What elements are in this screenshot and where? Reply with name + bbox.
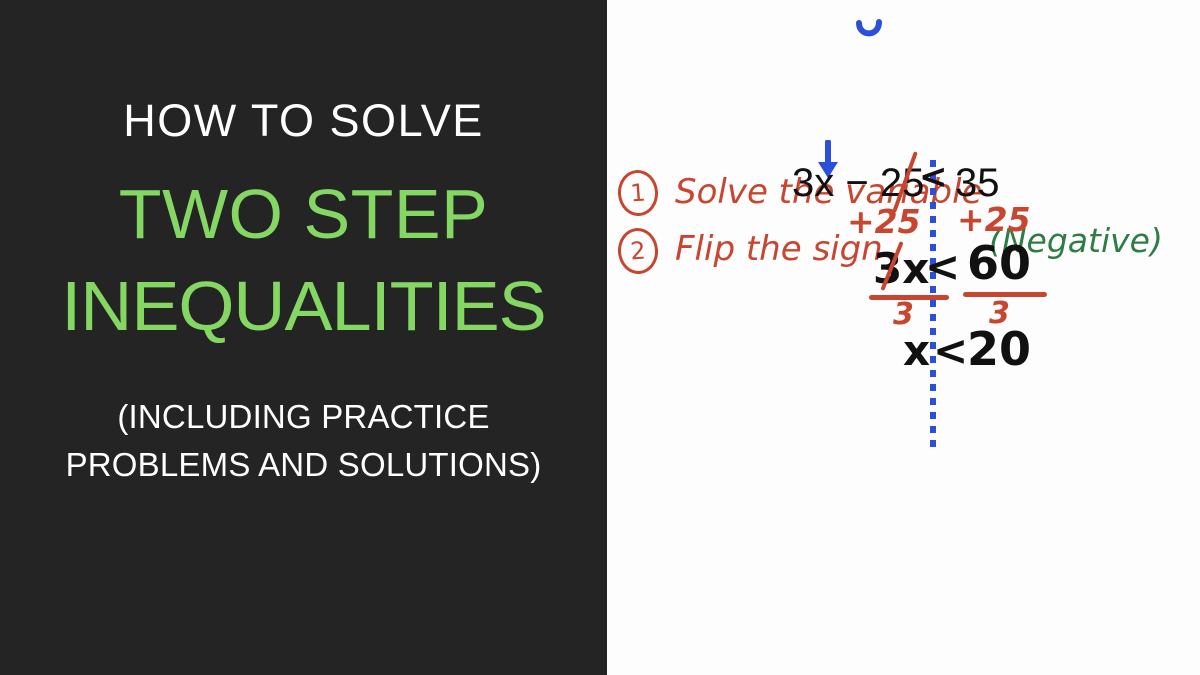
equation-line-4-right: 20 [967,326,1031,372]
step-number-circle-1: 1 [616,169,659,218]
blue-dotted-divider [930,160,936,450]
title-panel: HOW TO SOLVE TWO STEP INEQUALITIES (INCL… [0,0,607,675]
title-subtitle-line-2: PROBLEMS AND SOLUTIONS) [0,441,607,489]
equation-line-3-right: 60 [967,240,1031,286]
whiteboard-panel: 1 Solve the variable 2 Flip the sign (Ne… [607,0,1200,675]
title-subtitle-line-1: (INCLUDING PRACTICE [0,393,607,441]
title-kicker: HOW TO SOLVE [0,98,607,143]
equation-line-2-right: +25 [957,203,1031,236]
blue-curve-mark-icon [855,19,885,45]
equation-line-4-operator: < [933,330,968,372]
equation-line-1-operator: < [919,160,948,194]
step-number-circle-2: 2 [616,227,659,276]
slide-canvas: HOW TO SOLVE TWO STEP INEQUALITIES (INCL… [0,0,1200,675]
title-main-line-2: INEQUALITIES [0,271,616,341]
equation-line-2-left: +25 [847,205,921,238]
equation-line-1-right: 35 [955,163,1000,203]
title-subtitle: (INCLUDING PRACTICE PROBLEMS AND SOLUTIO… [0,393,607,489]
equation-line-3-operator: < [925,246,960,288]
title-main-line-1: TWO STEP [0,179,607,249]
equation-line-4-left: x [903,330,930,372]
